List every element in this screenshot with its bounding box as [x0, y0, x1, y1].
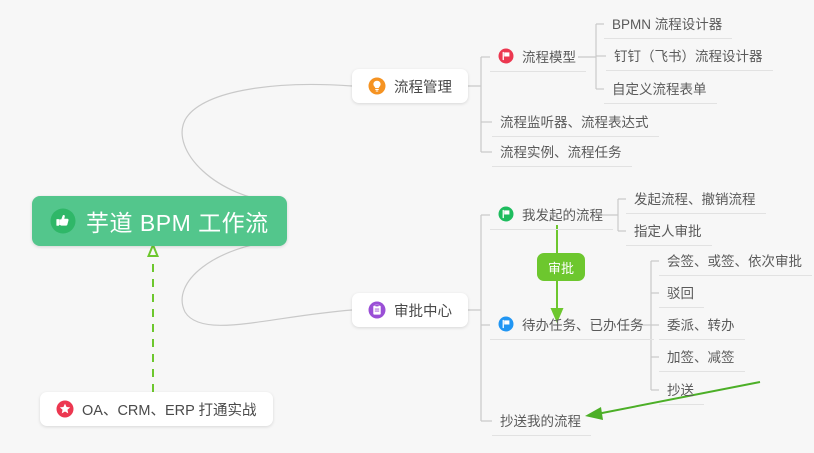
annotation-badge-approval[interactable]: 审批 [537, 253, 585, 281]
arrow-note-to-root [149, 245, 158, 392]
node-label: 委派、转办 [667, 314, 735, 334]
node-my-started-process[interactable]: 我发起的流程 [490, 199, 613, 230]
node-label: 流程实例、流程任务 [500, 141, 622, 161]
node-label: 抄送 [667, 379, 694, 399]
node-add-remove-sign[interactable]: 加签、减签 [659, 341, 745, 372]
node-instance-task[interactable]: 流程实例、流程任务 [492, 136, 632, 167]
node-listener-expression[interactable]: 流程监听器、流程表达式 [492, 106, 659, 137]
node-label: 待办任务、已办任务 [522, 314, 644, 334]
node-dingtalk-designer[interactable]: 钉钉（飞书）流程设计器 [606, 40, 773, 71]
node-label: 加签、减签 [667, 346, 735, 366]
node-label: 发起流程、撤销流程 [634, 188, 756, 208]
clipboard-icon [368, 301, 386, 319]
node-label: 钉钉（飞书）流程设计器 [614, 45, 763, 65]
node-label: BPMN 流程设计器 [612, 13, 722, 33]
node-bpmn-designer[interactable]: BPMN 流程设计器 [604, 8, 732, 39]
note-node[interactable]: OA、CRM、ERP 打通实战 [40, 392, 273, 426]
link-root-to-process-management [182, 84, 352, 203]
node-cc[interactable]: 抄送 [659, 374, 704, 405]
node-label: 会签、或签、依次审批 [667, 250, 802, 270]
node-label: 指定人审批 [634, 220, 702, 240]
note-label: OA、CRM、ERP 打通实战 [82, 399, 257, 420]
node-label: 我发起的流程 [522, 204, 603, 224]
node-start-cancel[interactable]: 发起流程、撤销流程 [626, 183, 766, 214]
node-label: 自定义流程表单 [612, 78, 707, 98]
node-label: 驳回 [667, 282, 694, 302]
thumbs-up-icon [50, 208, 76, 234]
branch-label: 审批中心 [394, 300, 452, 321]
annotation-label: 审批 [548, 258, 574, 277]
link-root-to-approval-center [182, 240, 352, 325]
branch-label: 流程管理 [394, 76, 452, 97]
root-label: 芋道 BPM 工作流 [86, 204, 269, 238]
node-process-model[interactable]: 流程模型 [490, 41, 586, 72]
node-delegate-transfer[interactable]: 委派、转办 [659, 309, 745, 340]
node-reject[interactable]: 驳回 [659, 277, 704, 308]
node-assignee-approval[interactable]: 指定人审批 [626, 215, 712, 246]
node-custom-form[interactable]: 自定义流程表单 [604, 73, 717, 104]
node-todo-done-task[interactable]: 待办任务、已办任务 [490, 309, 654, 340]
star-icon [56, 400, 74, 418]
node-label: 流程监听器、流程表达式 [500, 111, 649, 131]
root-node[interactable]: 芋道 BPM 工作流 [32, 196, 287, 246]
flag-green-icon [498, 206, 514, 222]
lightbulb-icon [368, 77, 386, 95]
flag-blue-icon [498, 316, 514, 332]
branch-approval-center[interactable]: 审批中心 [352, 293, 468, 327]
branch-process-management[interactable]: 流程管理 [352, 69, 468, 103]
flag-red-icon [498, 48, 514, 64]
node-multi-sign[interactable]: 会签、或签、依次审批 [659, 245, 812, 276]
mindmap-canvas: 芋道 BPM 工作流 OA、CRM、ERP 打通实战 流程管理 [0, 0, 814, 453]
node-label: 抄送我的流程 [500, 410, 581, 430]
node-label: 流程模型 [522, 46, 576, 66]
node-cc-to-me[interactable]: 抄送我的流程 [492, 405, 591, 436]
